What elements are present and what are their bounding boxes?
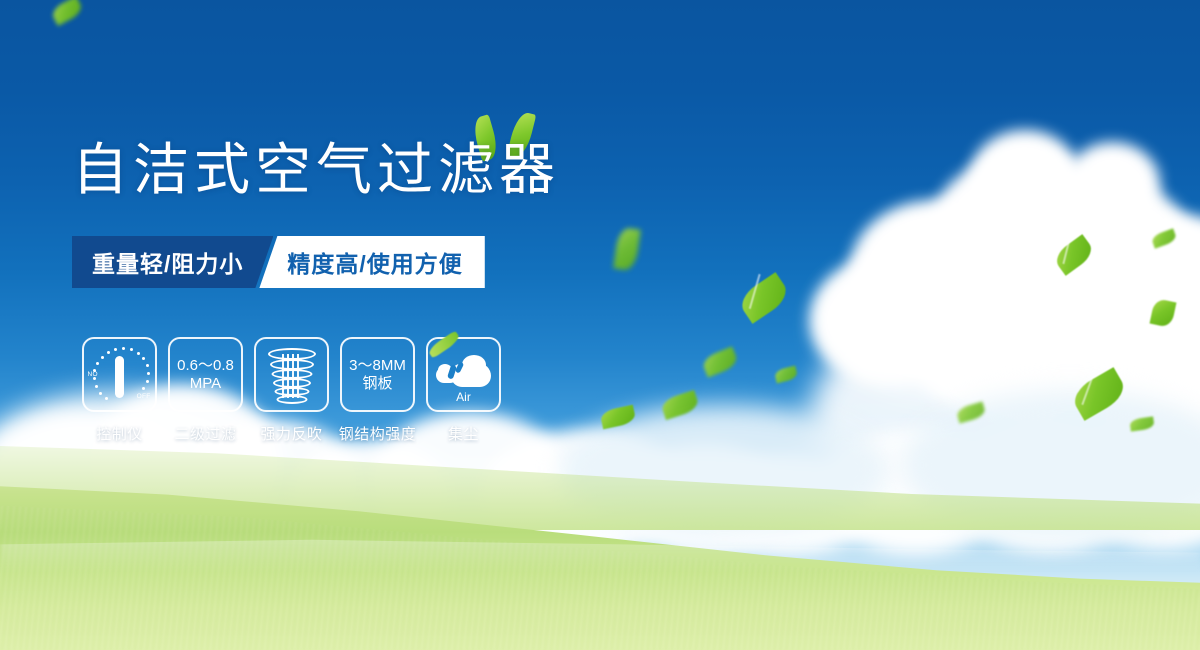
- cloud-right-wisp: [820, 250, 1080, 400]
- feature-item-controller[interactable]: NO OFF 控制仪: [82, 337, 157, 444]
- page-title: 自洁式空气过滤器: [72, 142, 560, 198]
- leaf-icon: [600, 405, 637, 430]
- feature-item-two-stage-filter[interactable]: 0.6～0.8 MPA 二级过滤: [168, 337, 243, 444]
- feature-item-back-blow[interactable]: 强力反吹: [254, 337, 329, 444]
- leaf-icon: [700, 346, 739, 377]
- leaf-icon: [660, 390, 700, 420]
- gauge-label-off: OFF: [137, 393, 151, 400]
- feature-caption: 集尘: [448, 423, 479, 444]
- leaf-icon: [613, 227, 641, 272]
- cloud-air-label: Air: [435, 390, 493, 404]
- feature-text: 0.6～0.8 MPA: [177, 357, 234, 392]
- subtitle-bar: 重量轻/阻力小 精度高/使用方便: [72, 236, 485, 288]
- feature-text-line1: 0.6～0.8: [177, 357, 234, 374]
- cloud-air-icon: Air: [435, 349, 493, 401]
- subtitle-right: 精度高/使用方便: [259, 236, 484, 288]
- feature-item-steel-strength[interactable]: 3～8MM 钢板 钢结构强度: [340, 337, 415, 444]
- gauge-icon: NO OFF: [89, 344, 151, 406]
- feature-text-line2: 钢板: [349, 375, 406, 393]
- subtitle-left: 重量轻/阻力小: [72, 236, 273, 288]
- feature-text-line2: MPA: [177, 375, 234, 393]
- feature-caption: 控制仪: [96, 423, 143, 444]
- feature-icon-box: [254, 337, 329, 412]
- feature-icon-box: 0.6～0.8 MPA: [168, 337, 243, 412]
- leaf-icon: [774, 366, 798, 384]
- feature-item-dust-collection[interactable]: Air 集尘: [426, 337, 501, 444]
- feature-icon-box: NO OFF: [82, 337, 157, 412]
- feature-icon-box: Air: [426, 337, 501, 412]
- hero-banner: 自洁式空气过滤器 重量轻/阻力小 精度高/使用方便: [0, 0, 1200, 650]
- feature-caption: 二级过滤: [174, 423, 236, 444]
- leaf-icon: [736, 272, 793, 324]
- coil-blast-icon: [266, 346, 318, 404]
- feature-text: 3～8MM 钢板: [349, 357, 406, 392]
- feature-caption: 强力反吹: [260, 423, 322, 444]
- leaf-streak-icon: [426, 330, 460, 358]
- gauge-label-no: NO: [88, 371, 98, 378]
- feature-list: NO OFF 控制仪 0.6～0.8 MPA 二级过滤: [82, 337, 501, 444]
- feature-caption: 钢结构强度: [339, 423, 417, 444]
- leaf-icon: [50, 0, 85, 26]
- feature-icon-box: 3～8MM 钢板: [340, 337, 415, 412]
- gauge-needle: [115, 356, 124, 398]
- feature-text-line1: 3～8MM: [349, 357, 406, 374]
